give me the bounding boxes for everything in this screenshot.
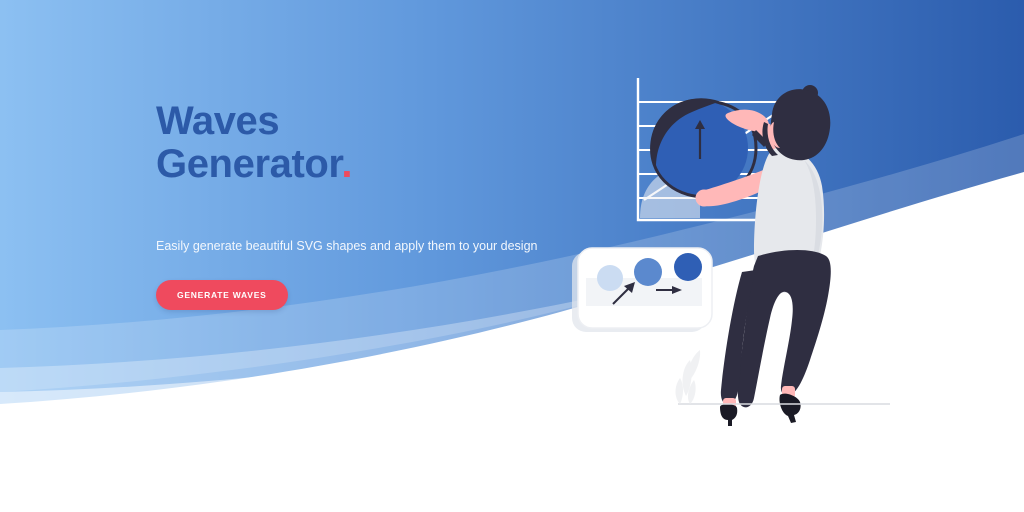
woman-drawing-chart-illustration	[560, 60, 980, 430]
hero-section: Waves Generator. Easily generate beautif…	[0, 0, 1024, 512]
shoe-right	[779, 394, 800, 423]
progress-steps-card[interactable]	[572, 248, 712, 332]
page-title-accent-dot: .	[341, 142, 352, 186]
hair	[771, 89, 831, 160]
page-title-line2: Generator	[156, 142, 341, 186]
step-circle-1[interactable]	[597, 265, 623, 291]
page-title-line1: Waves	[156, 99, 279, 143]
generate-waves-button[interactable]: GENERATE WAVES	[156, 280, 288, 310]
plant-decoration	[676, 350, 701, 404]
page-title: Waves Generator.	[156, 100, 576, 186]
shoe-left	[720, 404, 737, 426]
hero-copy: Waves Generator. Easily generate beautif…	[156, 100, 576, 310]
hero-subtitle: Easily generate beautiful SVG shapes and…	[156, 186, 576, 254]
hand-circle	[696, 190, 713, 207]
step-circle-2[interactable]	[634, 258, 662, 286]
step-circle-3[interactable]	[674, 253, 702, 281]
